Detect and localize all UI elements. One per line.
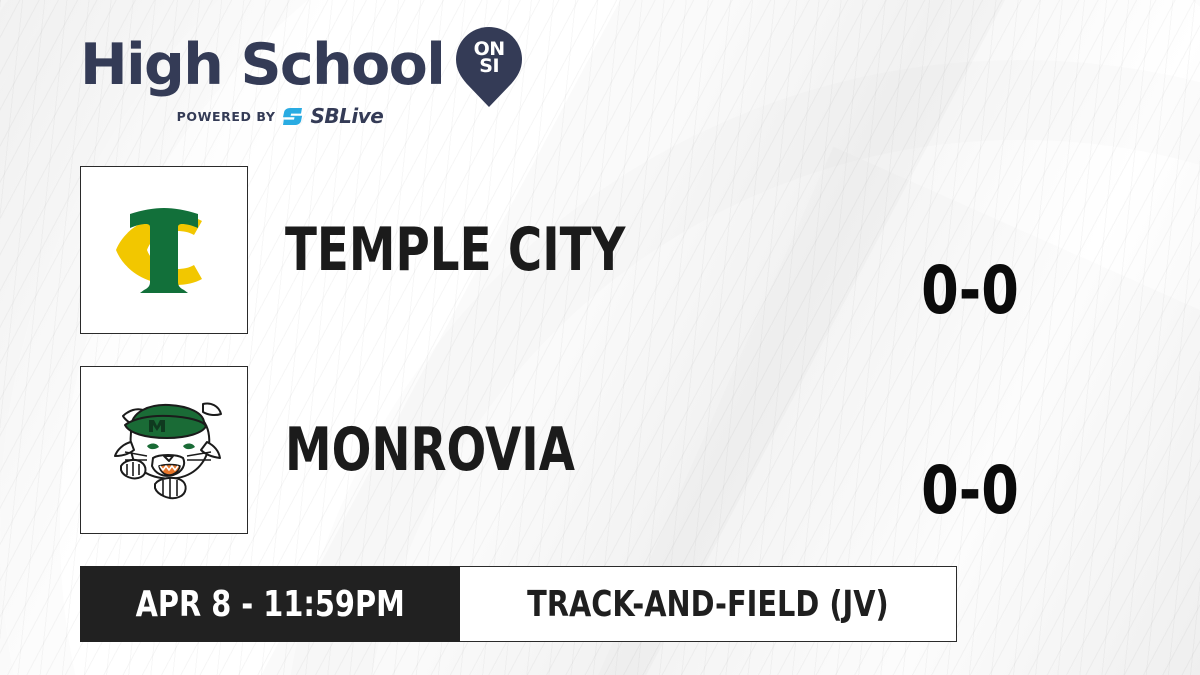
on-si-pin-label: ON SI [456,41,522,75]
temple-city-tc-monogram-logo-icon [94,180,234,320]
powered-by-label: POWERED BY [177,109,276,124]
team-name-1: TEMPLE CITY [285,220,936,280]
monrovia-wildcat-mascot-logo-icon [91,380,237,520]
team-name-2: MONROVIA [285,420,936,480]
sblive-s-mark-icon [283,108,303,125]
brand-lockup: High School ON SI POWERED BY SBLive [80,32,540,137]
game-info-bar: APR 8 - 11:59PM TRACK-AND-FIELD (JV) [80,566,957,642]
team-record-2: 0-0 [892,458,1048,524]
game-datetime-block: APR 8 - 11:59PM [80,566,460,642]
team-record-1: 0-0 [892,258,1048,324]
brand-title: High School [80,37,444,94]
on-si-pin-icon: ON SI [456,27,522,107]
team-logo-box-2 [80,366,248,534]
pin-line-si: SI [456,58,522,75]
matchup-graphic: High School ON SI POWERED BY SBLive [0,0,1200,675]
brand-title-row: High School ON SI [80,32,540,98]
powered-by-row: POWERED BY SBLive [80,104,480,128]
sblive-wordmark: SBLive [311,104,384,128]
game-sport-label: TRACK-AND-FIELD (JV) [528,584,889,625]
team-logo-box-1 [80,166,248,334]
game-datetime-label: APR 8 - 11:59PM [136,584,405,625]
game-sport-block: TRACK-AND-FIELD (JV) [460,566,957,642]
